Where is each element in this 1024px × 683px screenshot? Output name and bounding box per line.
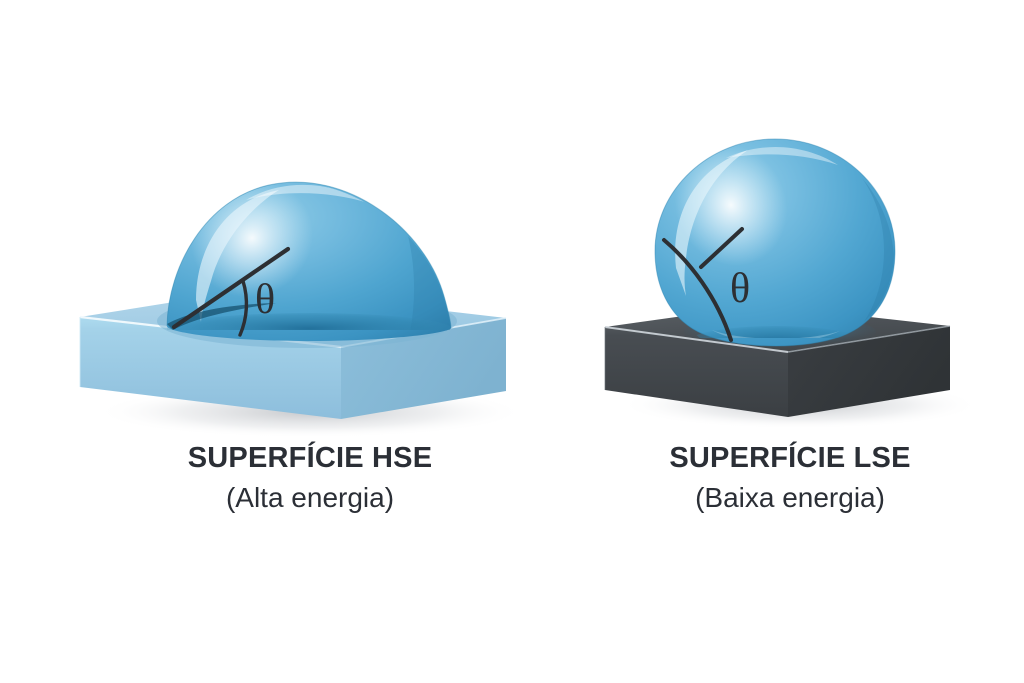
caption-hse-subtitle: (Alta energia) bbox=[90, 484, 530, 512]
hse-droplet bbox=[164, 156, 454, 347]
caption-lse-subtitle: (Baixa energia) bbox=[570, 484, 1010, 512]
caption-hse-title: SUPERFÍCIE HSE bbox=[90, 444, 530, 473]
hse-theta-symbol: θ bbox=[255, 277, 275, 323]
lse-theta-symbol: θ bbox=[730, 266, 750, 312]
panel-hse: θ bbox=[80, 156, 525, 438]
caption-lse: SUPERFÍCIE LSE (Baixa energia) bbox=[570, 444, 1010, 512]
figure-canvas: θ bbox=[0, 0, 1024, 683]
caption-hse: SUPERFÍCIE HSE (Alta energia) bbox=[90, 444, 530, 512]
lse-droplet bbox=[655, 126, 895, 362]
panel-lse: θ bbox=[605, 126, 980, 429]
contact-angle-illustration: θ bbox=[0, 0, 1024, 683]
caption-lse-title: SUPERFÍCIE LSE bbox=[570, 444, 1010, 473]
